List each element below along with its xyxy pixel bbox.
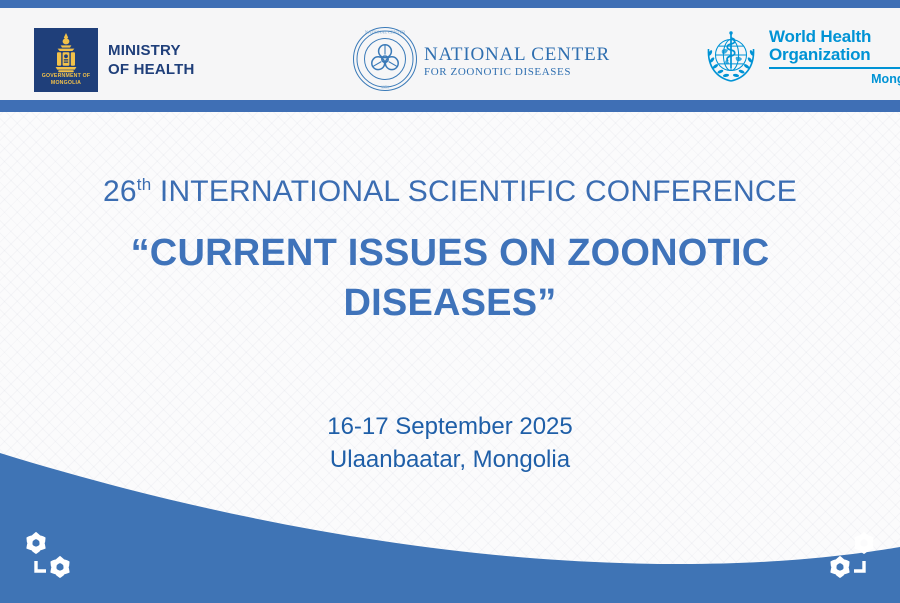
- logo-header-band: GOVERNMENT OF MONGOLIA MINISTRY OF HEALT…: [0, 8, 900, 100]
- conference-number: 26: [103, 175, 137, 208]
- soyombo-icon: [34, 32, 98, 74]
- conference-label: INTERNATIONAL SCIENTIFIC CONFERENCE: [151, 175, 797, 208]
- wave-shadow: [0, 455, 900, 603]
- mongolian-knot-ornament-left: [16, 525, 90, 589]
- conference-ordinal: th: [137, 175, 152, 194]
- slide-body: 26th INTERNATIONAL SCIENTIFIC CONFERENCE…: [0, 112, 900, 603]
- who-emblem-icon: [700, 26, 762, 88]
- event-date: 16-17 September 2025: [0, 410, 900, 443]
- mongolian-knot-ornament-right: [810, 525, 884, 589]
- ministry-of-health-name: MINISTRY OF HEALTH: [108, 41, 195, 79]
- conference-title-slide: GOVERNMENT OF MONGOLIA MINISTRY OF HEALT…: [0, 0, 900, 603]
- svg-text:NATIONAL CENTER: NATIONAL CENTER: [365, 29, 405, 34]
- national-center-name: NATIONAL CENTER FOR ZOONOTIC DISEASES: [424, 45, 610, 78]
- svg-text:1951: 1951: [381, 85, 389, 90]
- mongolia-government-crest: GOVERNMENT OF MONGOLIA: [34, 28, 98, 92]
- title-block: 26th INTERNATIONAL SCIENTIFIC CONFERENCE…: [0, 174, 900, 328]
- ministry-of-health-logo: GOVERNMENT OF MONGOLIA MINISTRY OF HEALT…: [34, 28, 195, 92]
- page-title: “CURRENT ISSUES ON ZOONOTIC DISEASES”: [0, 228, 900, 328]
- who-name: World Health Organization Mongolia: [769, 28, 900, 86]
- event-meta: 16-17 September 2025 Ulaanbaatar, Mongol…: [0, 410, 900, 476]
- top-accent-bar: [0, 0, 900, 8]
- who-logo: World Health Organization Mongolia: [700, 26, 900, 88]
- crest-caption: GOVERNMENT OF MONGOLIA: [34, 73, 98, 87]
- national-center-logo: NATIONAL CENTER 1951: [352, 26, 610, 92]
- conference-number-line: 26th INTERNATIONAL SCIENTIFIC CONFERENCE: [0, 174, 900, 210]
- biohazard-seal-icon: NATIONAL CENTER 1951: [352, 26, 418, 92]
- event-location: Ulaanbaatar, Mongolia: [0, 443, 900, 476]
- who-divider-rule: [769, 67, 900, 69]
- header-divider-bar: [0, 100, 900, 112]
